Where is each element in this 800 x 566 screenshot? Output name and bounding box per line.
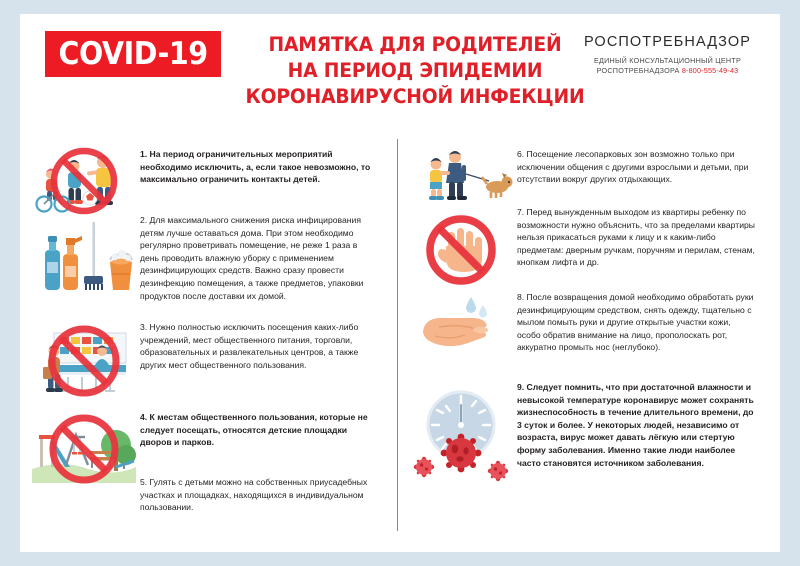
covid-19-badge-label: COVID-19	[58, 39, 207, 70]
list-item: 3. Нужно полностью исключить посещения к…	[32, 321, 378, 401]
brand-subtitle-label: РОСПОТРЕБНАДЗОРА	[597, 66, 680, 75]
shop-cafe-prohibited-icon	[32, 321, 140, 401]
hotline-phone-number: 8-800-555-49-43	[682, 66, 739, 75]
list-item-text: 5. Гулять с детьми можно на собственных …	[140, 476, 378, 514]
title-line-3: КОРОНАВИРУСНОЙ ИНФЕКЦИИ	[242, 84, 588, 110]
list-item-text: 4. К местам общественного пользования, к…	[140, 411, 378, 449]
family-walking-dog-icon	[409, 148, 517, 202]
title-line-2: НА ПЕРИОД ЭПИДЕМИИ	[242, 58, 588, 84]
list-item-text: 2. Для максимального снижения риска инфи…	[140, 214, 378, 302]
left-column: 1. На период ограничительных мероприятий…	[28, 126, 393, 546]
list-item-text: 1. На период ограничительных мероприятий…	[140, 148, 378, 186]
clock-virus-icon	[409, 381, 517, 489]
list-item: 2. Для максимального снижения риска инфи…	[32, 214, 378, 310]
brand-subtitle-line-2: РОСПОТРЕБНАДЗОРА 8-800-555-49-43	[575, 66, 760, 76]
children-playing-prohibited-icon	[32, 148, 140, 214]
list-item: 4. К местам общественного пользования, к…	[32, 411, 378, 483]
poster: COVID-19 ПАМЯТКА ДЛЯ РОДИТЕЛЕЙ НА ПЕРИОД…	[20, 14, 780, 552]
list-item: 5. Гулять с детьми можно на собственных …	[32, 476, 378, 514]
brand-subtitle: ЕДИНЫЙ КОНСУЛЬТАЦИОННЫЙ ЦЕНТР РОСПОТРЕБН…	[575, 56, 760, 76]
brand-subtitle-line-1: ЕДИНЫЙ КОНСУЛЬТАЦИОННЫЙ ЦЕНТР	[575, 56, 760, 66]
page-title: ПАМЯТКА ДЛЯ РОДИТЕЛЕЙ НА ПЕРИОД ЭПИДЕМИИ…	[235, 32, 595, 110]
list-item: 7. Перед вынужденным выходом из квартиры…	[409, 206, 755, 288]
brand-name: РОСПОТРЕБНАДЗОР	[575, 34, 760, 50]
list-item-text: 3. Нужно полностью исключить посещения к…	[140, 321, 378, 371]
no-touching-hand-prohibited-icon	[409, 206, 517, 288]
list-item: 1. На период ограничительных мероприятий…	[32, 148, 378, 214]
list-item-text: 7. Перед вынужденным выходом из квартиры…	[517, 206, 755, 269]
content-columns: 1. На период ограничительных мероприятий…	[20, 126, 780, 546]
covid-19-badge: COVID-19	[45, 31, 221, 77]
list-item: 8. После возвращения домой необходимо об…	[409, 291, 755, 361]
cleaning-supplies-icon	[32, 214, 140, 310]
list-item: 9. Следует помнить, что при достаточной …	[409, 381, 755, 489]
playground-prohibited-icon	[32, 411, 140, 483]
rospotrebnadzor-logo: РОСПОТРЕБНАДЗОР ЕДИНЫЙ КОНСУЛЬТАЦИОННЫЙ …	[575, 34, 760, 76]
list-item-text: 8. После возвращения домой необходимо об…	[517, 291, 755, 354]
title-line-1: ПАМЯТКА ДЛЯ РОДИТЕЛЕЙ	[242, 32, 588, 58]
poster-header: COVID-19 ПАМЯТКА ДЛЯ РОДИТЕЛЕЙ НА ПЕРИОД…	[20, 14, 780, 126]
list-item: 6. Посещение лесопарковых зон возможно т…	[409, 148, 755, 202]
list-item-text: 6. Посещение лесопарковых зон возможно т…	[517, 148, 755, 186]
list-item-text: 9. Следует помнить, что при достаточной …	[517, 381, 755, 469]
hand-washing-icon	[409, 291, 517, 361]
right-column: 6. Посещение лесопарковых зон возможно т…	[405, 126, 770, 546]
column-divider	[397, 139, 398, 531]
